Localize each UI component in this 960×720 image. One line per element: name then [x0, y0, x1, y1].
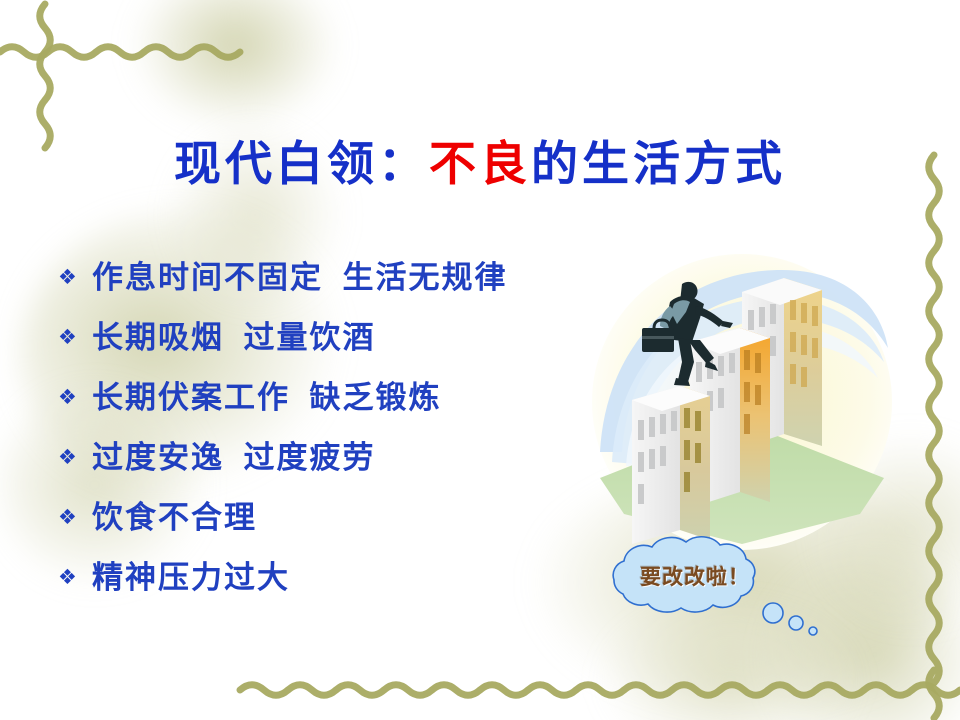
title-segment-3: 的生活方式: [531, 137, 786, 190]
title-segment-1: 现代白领：: [174, 137, 429, 190]
thought-bubble: 要改改啦！: [576, 528, 836, 648]
list-item: ❖ 过度安逸 过度疲劳: [58, 432, 618, 492]
slide-canvas: 现代白领：不良的生活方式 ❖ 作息时间不固定 生活无规律 ❖ 长期吸烟 过量饮酒…: [0, 0, 960, 720]
thought-bubble-label: 要改改啦！: [610, 561, 780, 591]
diamond-cluster-bullet-icon: ❖: [58, 387, 92, 408]
list-item: ❖ 长期伏案工作 缺乏锻炼: [58, 372, 618, 432]
diamond-cluster-bullet-icon: ❖: [58, 267, 92, 288]
bullet-list: ❖ 作息时间不固定 生活无规律 ❖ 长期吸烟 过量饮酒 ❖ 长期伏案工作 缺乏锻…: [58, 252, 618, 612]
list-item-label: 长期吸烟 过量饮酒: [92, 312, 376, 357]
list-item: ❖ 长期吸烟 过量饮酒: [58, 312, 618, 372]
border-top-horizontal: [0, 47, 240, 58]
list-item-label: 饮食不合理: [92, 492, 257, 537]
diamond-cluster-bullet-icon: ❖: [58, 327, 92, 348]
diamond-cluster-bullet-icon: ❖: [58, 567, 92, 588]
list-item: ❖ 饮食不合理: [58, 492, 618, 552]
list-item: ❖ 作息时间不固定 生活无规律: [58, 252, 618, 312]
page-title: 现代白领：不良的生活方式: [0, 138, 960, 190]
building-front: [632, 386, 710, 544]
list-item-label: 作息时间不固定 生活无规律: [92, 252, 508, 297]
border-right-vertical: [929, 155, 940, 718]
list-item-label: 过度安逸 过度疲劳: [92, 432, 376, 477]
list-item: ❖ 精神压力过大: [58, 552, 618, 612]
title-segment-highlight: 不良: [429, 137, 531, 190]
blurred-floral-watermark: [130, 0, 340, 130]
diamond-cluster-bullet-icon: ❖: [58, 447, 92, 468]
thought-bubble-trail: [763, 603, 817, 635]
list-item-label: 精神压力过大: [92, 552, 290, 597]
diamond-cluster-bullet-icon: ❖: [58, 507, 92, 528]
list-item-label: 长期伏案工作 缺乏锻炼: [92, 372, 442, 417]
businessman-striding-over-buildings-image: [592, 252, 892, 552]
border-left-vertical: [40, 4, 51, 148]
border-bottom-horizontal: [240, 685, 960, 696]
